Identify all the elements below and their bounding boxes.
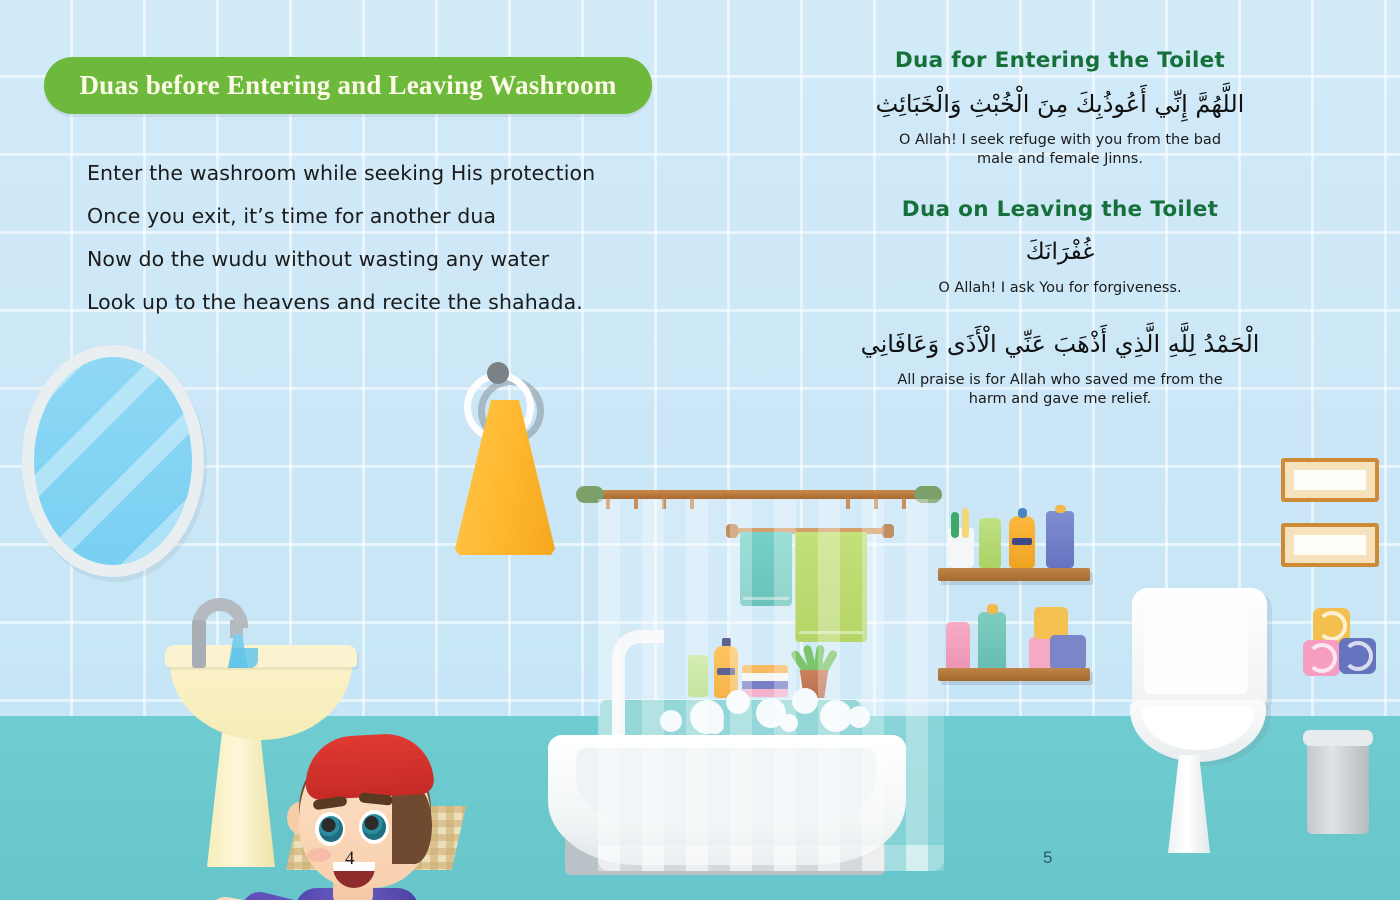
rolled-towel-blue: [1050, 635, 1086, 670]
mirror-glass: [34, 357, 192, 565]
toothbrush-icon: [962, 508, 969, 538]
decor-tile-pink: [1303, 640, 1340, 676]
shower-curtain-hem: [598, 845, 944, 871]
waste-bin: [1307, 738, 1369, 834]
boy-cheek: [307, 848, 331, 862]
bottle-cap-icon: [1055, 505, 1066, 513]
dua-column: Dua for Entering the Toilet اللَّهُمَّ إ…: [855, 48, 1265, 409]
toilet-tank-inner: [1144, 598, 1248, 694]
dua-translation-leaving: O Allah! I ask You for forgiveness.: [855, 279, 1265, 298]
verse-line: Enter the washroom while seeking His pro…: [87, 152, 657, 195]
teal-bottle: [978, 612, 1006, 670]
boy-hair-side: [392, 788, 432, 864]
page-number-left: 4: [345, 848, 355, 870]
water-splash: [232, 648, 258, 668]
dua-translation-entering-line2: male and female Jinns.: [855, 150, 1265, 169]
pink-tube: [946, 622, 970, 670]
page-number-right: 5: [1043, 848, 1052, 868]
dua-translation-praise-line2: harm and gave me relief.: [855, 390, 1265, 409]
oval-mirror: [22, 345, 204, 577]
dua-arabic-leaving: غُفْرَانَكَ: [855, 235, 1265, 270]
picture-frame: [1281, 523, 1379, 567]
bottle-cap-icon: [1018, 508, 1027, 518]
title-banner: Duas before Entering and Leaving Washroo…: [44, 57, 652, 114]
verse-line: Look up to the heavens and recite the sh…: [87, 281, 657, 324]
dua-translation-praise-line1: All praise is for Allah who saved me fro…: [855, 371, 1265, 390]
bottle-label: [1012, 538, 1032, 545]
wall-shelf-top: [938, 568, 1090, 581]
green-lotion-tube: [979, 518, 1001, 568]
boy-iris-left: [319, 816, 343, 842]
bottle-cap-icon: [987, 604, 998, 614]
boy-iris-right: [362, 814, 386, 840]
faucet-body: [192, 620, 206, 668]
blue-bottle: [1046, 511, 1074, 568]
dua-arabic-entering: اللَّهُمَّ إِنِّي أَعُوذُبِكَ مِنَ الْخُ…: [855, 86, 1265, 122]
towel-ring-knob-icon: [487, 362, 509, 384]
red-kufi-cap: [303, 732, 434, 801]
page-title: Duas before Entering and Leaving Washroo…: [79, 70, 616, 101]
boy-character: [255, 370, 470, 865]
toothbrush-icon: [951, 512, 959, 538]
verse-line: Once you exit, it’s time for another dua: [87, 195, 657, 238]
dua-translation-entering-line1: O Allah! I seek refuge with you from the…: [855, 131, 1265, 150]
waste-bin-lid: [1303, 730, 1373, 746]
wall-shelf-bottom: [938, 668, 1090, 681]
dua-arabic-praise: الْحَمْدُ لِلَّهِ الَّذِي أَذْهَبَ عَنِّ…: [855, 326, 1265, 362]
verse-line: Now do the wudu without wasting any wate…: [87, 238, 657, 281]
dua-heading-leaving: Dua on Leaving the Toilet: [855, 197, 1265, 222]
picture-frame: [1281, 458, 1379, 502]
storybook-spread: Duas before Entering and Leaving Washroo…: [0, 0, 1400, 900]
verse-block: Enter the washroom while seeking His pro…: [87, 152, 657, 324]
dua-heading-entering: Dua for Entering the Toilet: [855, 48, 1265, 73]
decor-tile-blue: [1339, 638, 1376, 674]
shower-curtain: [598, 499, 944, 871]
